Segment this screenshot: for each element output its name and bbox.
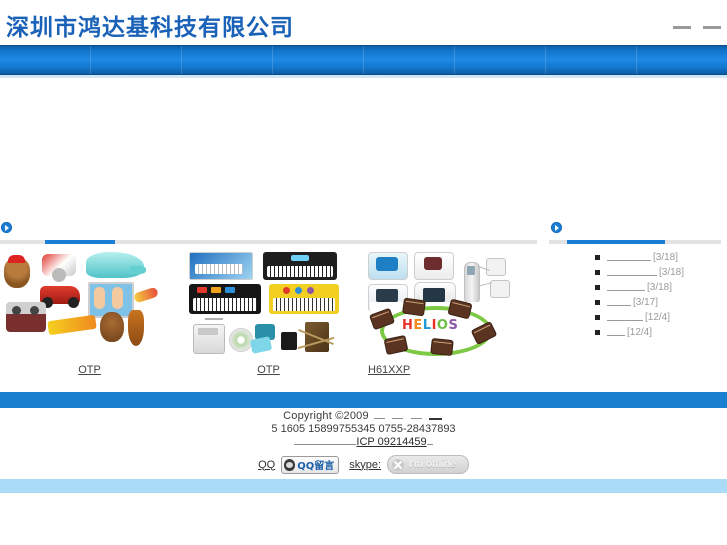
news-link[interactable]	[607, 314, 643, 321]
footer-ghost-text	[429, 413, 442, 420]
news-date: [3/18]	[647, 282, 672, 293]
footer-ghost-text	[392, 413, 403, 419]
product-item[interactable]: OTP	[0, 250, 179, 378]
news-link[interactable]	[607, 299, 631, 306]
news-link[interactable]	[607, 284, 645, 291]
language-links	[673, 26, 721, 29]
copyright-text: Copyright ©2009	[283, 410, 369, 422]
footer-contact-line: 5 1605 15899755345 0755-28437893	[0, 423, 727, 436]
bullet-icon	[595, 270, 600, 275]
language-link-1[interactable]	[673, 26, 691, 29]
helios-letter: L	[423, 318, 432, 333]
bullet-icon	[595, 315, 600, 320]
helios-wordmark: HELIOS	[402, 318, 458, 333]
bullet-icon	[595, 300, 600, 305]
nav-item-5[interactable]	[364, 46, 455, 74]
footer-copyright-line: Copyright ©2009	[0, 410, 727, 423]
site-header: 深圳市鸿达基科技有限公司	[0, 0, 727, 45]
banner-area	[0, 78, 727, 212]
products-row: OTP	[0, 250, 537, 378]
company-title: 深圳市鸿达基科技有限公司	[6, 8, 294, 42]
helios-letter: O	[437, 318, 449, 333]
product-item[interactable]: HELIOS H61XXP	[358, 250, 537, 378]
helios-letter: H	[402, 318, 413, 333]
skype-label[interactable]: skype:	[349, 459, 381, 471]
footer-ghost-text	[294, 439, 356, 445]
play-circle-icon	[551, 222, 562, 233]
skype-status-label: I'm offline	[409, 459, 456, 470]
news-list-item[interactable]: [3/18]	[549, 265, 727, 280]
bullet-icon	[595, 330, 600, 335]
nav-item-7[interactable]	[546, 46, 637, 74]
chip-icon	[403, 299, 425, 316]
footer-ghost-text	[427, 439, 433, 445]
footer-ghost-text	[411, 413, 422, 419]
nav-item-2[interactable]	[91, 46, 182, 74]
news-list-item[interactable]: [3/18]	[549, 250, 727, 265]
language-link-2[interactable]	[703, 26, 721, 29]
icp-link[interactable]: ICP 09214459	[356, 436, 426, 449]
products-panel-rule-fill	[45, 240, 115, 244]
site-footer: Copyright ©2009 5 1605 15899755345 0755-…	[0, 410, 727, 449]
news-list-item[interactable]: [12/4]	[549, 325, 727, 340]
bottom-strip	[0, 479, 727, 493]
news-list: [3/18] [3/18] [3/18] [3/17] [12/4]	[549, 250, 727, 340]
footer-ghost-text	[374, 413, 385, 419]
footer-icp-line: ICP 09214459	[0, 436, 727, 449]
news-panel: [3/18] [3/18] [3/18] [3/17] [12/4]	[549, 218, 727, 244]
news-list-item[interactable]: [12/4]	[549, 310, 727, 325]
news-link[interactable]	[607, 254, 651, 261]
toy-collage-image[interactable]	[0, 250, 160, 355]
play-circle-icon	[1, 222, 12, 233]
helios-letter: S	[448, 318, 458, 333]
news-date: [12/4]	[645, 312, 670, 323]
helios-letter: E	[413, 318, 422, 333]
news-link[interactable]	[607, 269, 657, 276]
skype-status-button[interactable]: I'm offline	[387, 455, 469, 474]
nav-item-6[interactable]	[455, 46, 546, 74]
nav-item-8[interactable]	[637, 46, 727, 74]
products-panel: OTP	[0, 218, 537, 244]
news-link[interactable]	[607, 329, 625, 336]
news-list-item[interactable]: [3/17]	[549, 295, 727, 310]
qq-badge-label: QQ留言	[297, 457, 334, 472]
product-label[interactable]: H61XXP	[358, 364, 547, 376]
nav-item-1[interactable]	[0, 46, 91, 74]
main-navigation[interactable]	[0, 45, 727, 75]
nav-item-3[interactable]	[182, 46, 273, 74]
news-date: [3/18]	[659, 267, 684, 278]
bullet-icon	[595, 255, 600, 260]
news-panel-rule-fill	[567, 240, 665, 244]
qq-message-button[interactable]: QQ留言	[281, 456, 339, 474]
instant-messenger-row: QQ QQ留言 skype: I'm offline	[0, 455, 727, 474]
footer-divider-bar	[0, 392, 727, 408]
qq-penguin-icon	[284, 459, 295, 471]
news-date: [12/4]	[627, 327, 652, 338]
bullet-icon	[595, 285, 600, 290]
skype-icon	[392, 459, 404, 471]
helios-chip-ring-image[interactable]: HELIOS	[370, 302, 496, 354]
webpage-root: 深圳市鸿达基科技有限公司	[0, 0, 727, 545]
product-item[interactable]: OTP	[179, 250, 358, 378]
news-date: [3/17]	[633, 297, 658, 308]
keyboard-collage-image[interactable]	[187, 250, 347, 355]
news-list-item[interactable]: [3/18]	[549, 280, 727, 295]
products-panel-rule	[0, 240, 537, 244]
nav-item-4[interactable]	[273, 46, 364, 74]
chip-icon	[431, 339, 452, 355]
news-date: [3/18]	[653, 252, 678, 263]
product-label[interactable]: OTP	[179, 364, 358, 376]
qq-label[interactable]: QQ	[258, 459, 275, 471]
product-label[interactable]: OTP	[0, 364, 179, 376]
news-panel-rule	[549, 240, 721, 244]
